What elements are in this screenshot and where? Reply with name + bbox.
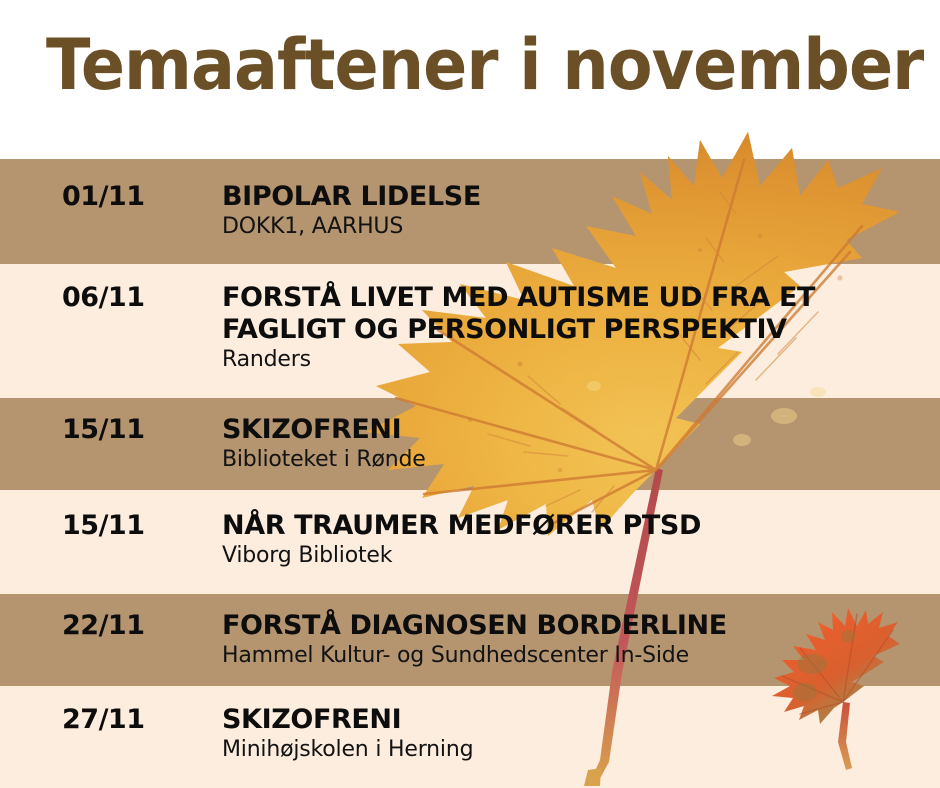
schedule-list: 01/11BIPOLAR LIDELSEDOKK1, AARHUS06/11FO… (0, 0, 940, 788)
event-title: SKIZOFRENI (222, 414, 932, 446)
schedule-row[interactable]: 22/11FORSTÅ DIAGNOSEN BORDERLINEHammel K… (0, 594, 940, 686)
event-title: BIPOLAR LIDELSE (222, 181, 932, 213)
event-venue: Randers (222, 347, 932, 373)
event-venue: Minihøjskolen i Herning (222, 737, 932, 763)
poster-canvas: Temaaftener i november 01/11BIPOLAR LIDE… (0, 0, 940, 788)
event-details: FORSTÅ LIVET MED AUTISME UD FRA ET FAGLI… (222, 282, 932, 373)
event-details: SKIZOFRENIMinihøjskolen i Herning (222, 704, 932, 763)
event-title: NÅR TRAUMER MEDFØRER PTSD (222, 510, 932, 542)
event-details: BIPOLAR LIDELSEDOKK1, AARHUS (222, 181, 932, 240)
event-details: SKIZOFRENIBiblioteket i Rønde (222, 414, 932, 473)
event-title: FORSTÅ DIAGNOSEN BORDERLINE (222, 610, 932, 642)
event-date: 27/11 (62, 704, 145, 735)
schedule-row[interactable]: 27/11SKIZOFRENIMinihøjskolen i Herning (0, 686, 940, 788)
event-details: FORSTÅ DIAGNOSEN BORDERLINEHammel Kultur… (222, 610, 932, 669)
event-venue: Viborg Bibliotek (222, 543, 932, 569)
event-details: NÅR TRAUMER MEDFØRER PTSDViborg Bibliote… (222, 510, 932, 569)
schedule-row[interactable]: 15/11NÅR TRAUMER MEDFØRER PTSDViborg Bib… (0, 490, 940, 594)
event-venue: Hammel Kultur- og Sundhedscenter In-Side (222, 643, 932, 669)
event-venue: DOKK1, AARHUS (222, 214, 932, 240)
event-title: FORSTÅ LIVET MED AUTISME UD FRA ET FAGLI… (222, 282, 932, 346)
event-date: 15/11 (62, 414, 145, 445)
event-date: 15/11 (62, 510, 145, 541)
event-title: SKIZOFRENI (222, 704, 932, 736)
schedule-row[interactable]: 01/11BIPOLAR LIDELSEDOKK1, AARHUS (0, 159, 940, 264)
schedule-row[interactable]: 06/11FORSTÅ LIVET MED AUTISME UD FRA ET … (0, 264, 940, 398)
event-date: 06/11 (62, 282, 145, 313)
event-date: 01/11 (62, 181, 145, 212)
event-venue: Biblioteket i Rønde (222, 447, 932, 473)
schedule-row[interactable]: 15/11SKIZOFRENIBiblioteket i Rønde (0, 398, 940, 490)
event-date: 22/11 (62, 610, 145, 641)
